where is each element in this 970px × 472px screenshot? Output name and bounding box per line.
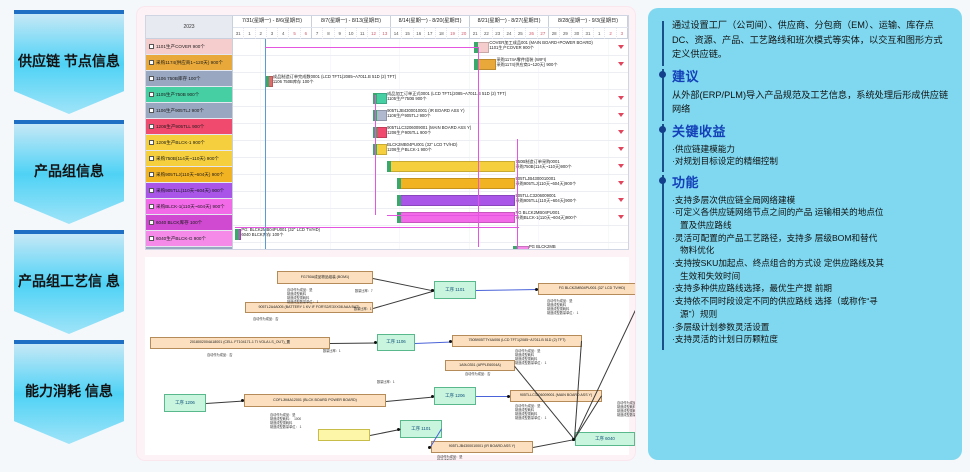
section-paragraph: 从外部(ERP/PLM)导入产品规范及工艺信息，系统处理后形成供应链网络 — [672, 88, 950, 117]
network-node[interactable]: 1A9L0351 (APPLE6004A) — [445, 360, 515, 371]
gantt-bar-label: PG: BLCK2MB04PU001 (32" LCD TV/HD) 6040 … — [241, 228, 320, 237]
gantt-row-label[interactable]: 6040 BLCK库存 100个 — [146, 215, 232, 231]
gantt-row-label[interactable]: 1101生产COVER 900个 — [146, 39, 232, 55]
network-node[interactable]: 2018002004A18001 (CELL FT104171-1 TI VOL… — [150, 337, 330, 349]
gantt-row-label[interactable]: 采购BLCK-F(6040天~C04天)1000个 — [146, 247, 232, 250]
gantt-row-label-text: 1206生产BLCK-1 900个 — [156, 140, 205, 145]
milestone-marker-icon — [618, 62, 624, 66]
gantt-week-header: 8/28(星期一) - 9/3(星期日) — [549, 16, 628, 27]
expand-icon[interactable] — [149, 76, 154, 81]
network-annotation: 自动作为成品：否 — [207, 353, 233, 357]
network-node[interactable]: 工序 6040 — [575, 432, 635, 446]
gantt-dependency-link — [235, 227, 519, 228]
bullet-icon — [659, 177, 666, 184]
milestone-marker-icon — [618, 147, 624, 151]
gantt-day-cell: 3 — [267, 28, 278, 39]
description-panel: 通过设置工厂（公司间）、供应商、分包商（EM）、运输、库存点DC、资源、产品、工… — [648, 8, 962, 460]
milestone-marker-icon — [618, 113, 624, 117]
section-title: 建议 — [672, 66, 950, 85]
gantt-week-header: 8/21(星期一) - 8/27(星期日) — [470, 16, 549, 27]
gantt-day-cell: 29 — [560, 28, 571, 39]
gantt-row-track: PG BLCK2MB04PU001 采购BLCK-1(110天~604天)900… — [233, 209, 628, 226]
gantt-dependency-link — [375, 95, 376, 215]
gantt-day-group: 31123456 — [233, 28, 312, 39]
network-annotation: 数量比率：1 — [323, 349, 341, 353]
gantt-row-label[interactable]: 1105生产750B 900个 — [146, 87, 232, 103]
slide-root: 供应链 节点信息 产品组信息 产品组工艺信 息 能力消耗 信息 2023 7/3… — [0, 0, 970, 472]
gantt-bar-sublabel: 1106生产905TLJ 900个 — [387, 114, 464, 119]
network-edge — [373, 278, 434, 291]
network-node[interactable]: COFLJM4A12001 (BLCK BOARD POWER BOARD) — [244, 394, 386, 407]
gantt-day-labels: 3112345678910111213141516171819202122232… — [233, 27, 628, 39]
section-title: 关键收益 — [672, 121, 950, 140]
gantt-bar[interactable] — [387, 161, 515, 172]
gantt-day-cell: 19 — [447, 28, 458, 39]
network-node[interactable]: 工序 1206 — [434, 387, 476, 405]
chevron-cap — [14, 10, 124, 14]
network-annotation: 自动作为成品：否 — [253, 317, 279, 321]
gantt-week-header: 7/31(星期一) - 8/6(星期日) — [233, 16, 312, 27]
gantt-row-track: 采购1174A零件组装 (WIFI) 采购1174(供应商1~120天) 900… — [233, 56, 628, 73]
gantt-day-group: 78910111213 — [312, 28, 391, 39]
gantt-day-cell: 27 — [538, 28, 548, 39]
network-annotation: 自动作为成品：是 制造成型耗料： 1000 制造成型需耗料 制造成型数量单位： … — [270, 413, 301, 429]
gantt-dependency-link — [517, 139, 518, 249]
gantt-row-label[interactable]: 采购750B(114天~110天) 900个 — [146, 151, 232, 167]
gantt-bar-sublabel: 1101生产COVER 900个 — [489, 46, 592, 51]
gantt-day-cell: 16 — [414, 28, 425, 39]
gantt-row-label-text: 采购1174(供应商1~120天) 900个 — [156, 60, 223, 65]
network-annotation: 自动作为成品：否 — [465, 372, 491, 376]
gantt-bar-sublabel: 1206生产BLCK-1 900个 — [387, 148, 457, 153]
network-node[interactable]: FG750A成品物品组装 (BOM1) — [277, 271, 373, 284]
chevron-step-2[interactable]: 产品组工艺信 息 — [14, 230, 124, 334]
network-edge-endpoint — [431, 289, 434, 292]
gantt-day-cell: 18 — [436, 28, 447, 39]
gantt-row-label-text: 1101生产COVER 900个 — [156, 44, 205, 49]
section-item-list: ·供应链建模能力·对规划目标设定的精细控制 — [672, 143, 950, 168]
gantt-bar-sublabel: 采购905TLJ(110天~604天)900个 — [515, 182, 576, 187]
chevron-cap — [14, 230, 124, 234]
expand-icon[interactable] — [149, 44, 154, 49]
section-item: 置及供应路线 — [672, 219, 950, 231]
gantt-bar-handle[interactable] — [397, 212, 401, 223]
gantt-day-group: 14151617181920 — [391, 28, 470, 39]
section-item: ·支持多种供应路线选择，最优生产提 前期 — [672, 282, 950, 294]
gantt-bar-label: 905TLJB4300010001 (IR BOARD ASS Y) 1106生… — [387, 109, 464, 118]
section-item: 物料优化 — [672, 244, 950, 256]
gantt-row-label-text: 采购905TLL(110天~604天) 900个 — [156, 188, 224, 193]
gantt-chart[interactable]: 2023 7/31(星期一) - 8/6(星期日)8/7(星期一) - 8/13… — [145, 15, 629, 250]
milestone-marker-icon — [618, 164, 624, 168]
gantt-day-cell: 5 — [289, 28, 300, 39]
chevron-step-1-label: 产品组信息 — [30, 163, 108, 181]
gantt-row-label-text: 采购750B(114天~110天) 900个 — [156, 156, 219, 161]
network-edge — [514, 366, 575, 440]
network-edge-endpoint — [374, 341, 377, 344]
gantt-row-label-text: 1206生产905TLL 900个 — [156, 124, 204, 129]
network-annotation: 自动作为成品：是 制造成型耗料： 1000 制造成型需耗料 制造成型数量单位： … — [617, 401, 636, 417]
bullet-icon — [659, 126, 666, 133]
gantt-day-cell: 20 — [459, 28, 469, 39]
network-node[interactable]: 工序 1101 — [434, 281, 476, 299]
gantt-day-cell: 21 — [470, 28, 481, 39]
expand-icon[interactable] — [149, 60, 154, 65]
gantt-bar-label: BLCK2MB04PU001 (32" LCD TV/HD) 1206生产BLC… — [387, 143, 457, 152]
gantt-bar-sublabel: 1106 750B库存 100个 — [273, 80, 396, 85]
milestone-marker-icon — [618, 130, 624, 134]
gantt-day-cell: 3 — [617, 28, 627, 39]
gantt-day-cell: 10 — [346, 28, 357, 39]
chevron-cap — [14, 340, 124, 344]
gantt-week-labels: 7/31(星期一) - 8/6(星期日)8/7(星期一) - 8/13(星期日)… — [233, 16, 628, 27]
gantt-week-header: 8/7(星期一) - 8/13(星期日) — [312, 16, 391, 27]
supply-network-diagram[interactable]: FG750A成品物品组装 (BOM1)905TL2A4A005 (BATTERY… — [145, 257, 629, 455]
network-edge — [330, 343, 377, 344]
network-node[interactable]: 750B905TTY4A006 (LCD TFT1(2085~A7011.B 5… — [452, 335, 582, 347]
section-item: 源”）规则 — [672, 308, 950, 320]
network-node[interactable]: 工序 1206 — [164, 394, 206, 412]
network-annotation: 数量比率：1 — [354, 307, 372, 311]
gantt-bar-label: PG BLCK2MB04PU001 采购BLCK-1(110天~604天)900… — [515, 211, 576, 220]
network-node[interactable] — [318, 429, 370, 441]
chevron-step-1[interactable]: 产品组信息 — [14, 120, 124, 224]
gantt-row-label[interactable]: 6040生产BLCK-G 900个 — [146, 231, 232, 247]
section-item: ·支持灵活的计划日历颗粒度 — [672, 333, 950, 345]
section-item-list: ·支持多层次供应链全局网络建模·可定义各供应链网络节点之间的产品 运输相关的地点… — [672, 194, 950, 346]
network-edge — [415, 341, 452, 343]
gantt-bar-label: 905TLLC3206009001 (MAIN BOARD ASS Y) 120… — [387, 126, 471, 135]
network-edge-endpoint — [431, 395, 434, 398]
gantt-row-track: 750B制造订单采购0001 采购750B(114天~110天)900个 — [233, 158, 628, 175]
gantt-day-group: 28293031123 — [549, 28, 628, 39]
milestone-marker-icon — [618, 249, 624, 250]
gantt-row-label-text: 1106 750B库存 100个 — [156, 76, 201, 81]
network-edge — [476, 396, 510, 397]
gantt-day-cell: 11 — [357, 28, 368, 39]
bullet-icon — [659, 71, 666, 78]
expand-icon[interactable] — [149, 124, 154, 129]
network-annotation: 自动作为成品：是 制造成型耗料 制造成型需耗料 制造成型数量单位： 1 — [547, 299, 578, 315]
gantt-bar[interactable] — [397, 178, 516, 189]
section-rail — [662, 175, 664, 350]
gantt-bar-label: 905TLLC3206009001 采购905TLL(110天~604天)900… — [515, 194, 576, 203]
gantt-row-label[interactable]: 1106生产905TLJ 900个 — [146, 103, 232, 119]
gantt-row-track: 成品制造订单完成数0001 (LCD TFT1(2085~A7011.B 51D… — [233, 73, 628, 90]
milestone-marker-icon — [618, 96, 624, 100]
gantt-day-cell: 22 — [481, 28, 492, 39]
section-title: 功能 — [672, 172, 950, 191]
gantt-bar-handle[interactable] — [387, 161, 391, 172]
network-annotation: 数量比率：7 — [355, 289, 373, 293]
network-edge — [476, 289, 538, 291]
gantt-bar-label: 750B制造订单采购0001 采购750B(114天~110天)900个 — [515, 160, 571, 169]
gantt-bar-sublabel: 采购750B(114天~110天)900个 — [515, 165, 571, 170]
gantt-day-cell: 23 — [493, 28, 504, 39]
section-item: ·对规划目标设定的精细控制 — [672, 155, 950, 167]
gantt-body: 1101生产COVER 900个采购1174(供应商1~120天) 900个11… — [146, 39, 628, 250]
expand-icon[interactable] — [149, 92, 154, 97]
gantt-day-cell: 6 — [301, 28, 311, 39]
gantt-row-label-text: 采购905TLJ(110天~604天) 900个 — [156, 172, 224, 177]
expand-icon[interactable] — [149, 188, 154, 193]
panel-section-0: 建议从外部(ERP/PLM)导入产品规范及工艺信息，系统处理后形成供应链网络 — [658, 66, 950, 117]
gantt-bar-label: 成品加工订单正式0001 (LCD TFT1(2085~A7011.B 51D … — [387, 92, 506, 101]
gantt-day-cell: 17 — [425, 28, 436, 39]
section-item: ·供应链建模能力 — [672, 143, 950, 155]
gantt-day-cell: 14 — [391, 28, 402, 39]
expand-icon[interactable] — [149, 108, 154, 113]
gantt-row-label[interactable]: 采购BLCK-1(110天~604天) 900个 — [146, 199, 232, 215]
chevron-step-0[interactable]: 供应链 节点信息 — [14, 10, 124, 114]
expand-icon[interactable] — [149, 140, 154, 145]
gantt-day-cell: 31 — [233, 28, 244, 39]
gantt-row-label-text: 1105生产750B 900个 — [156, 92, 199, 97]
expand-icon[interactable] — [149, 156, 154, 161]
intro-section: 通过设置工厂（公司间）、供应商、分包商（EM）、运输、库存点DC、资源、产品、工… — [658, 18, 950, 62]
gantt-week-header: 8/14(星期一) - 8/20(星期日) — [391, 16, 470, 27]
gantt-bar[interactable] — [235, 229, 242, 240]
network-edge-endpoint — [428, 446, 431, 449]
gantt-bar-label: 成品制造订单完成数0001 (LCD TFT1(2085~A7011.B 51D… — [273, 75, 396, 84]
section-item: ·支持多层次供应链全局网络建模 — [672, 194, 950, 206]
milestone-marker-icon — [618, 45, 624, 49]
network-node[interactable]: 905TLLC3206009001 (MAIN BOARD ASS Y) — [510, 390, 602, 402]
network-edge — [386, 396, 434, 401]
network-node[interactable]: 工序 1106 — [377, 334, 415, 351]
gantt-day-cell: 2 — [256, 28, 267, 39]
gantt-row-track: 905TLJB4300010001 采购905TLJ(110天~604天)900… — [233, 175, 628, 192]
expand-icon[interactable] — [149, 204, 154, 209]
gantt-year-label: 2023 — [146, 16, 233, 38]
gantt-bar-sublabel: 1206生产905TLL 900个 — [387, 131, 471, 136]
gantt-row-track: PG: BLCK2MB04PU001 (32" LCD TV/HD) 6040 … — [233, 226, 628, 243]
section-item: ·灵活可配置的产品工艺路径，支持多 层级BOM和替代 — [672, 232, 950, 244]
process-flow-chevrons: 供应链 节点信息 产品组信息 产品组工艺信 息 能力消耗 信息 — [14, 4, 124, 468]
section-item: ·支持按SKU加起点、终点组合的方式设 定供应路线及其 — [672, 257, 950, 269]
network-edge-endpoint — [535, 288, 538, 291]
gantt-day-cell: 28 — [549, 28, 560, 39]
network-node[interactable]: FG BLCK2MB04PU001 (32" LCD TV/HD) — [538, 283, 636, 295]
gantt-row-label[interactable]: 采购1174(供应商1~120天) 900个 — [146, 55, 232, 71]
gantt-day-cell: 2 — [605, 28, 616, 39]
today-line — [265, 39, 266, 250]
gantt-row-label[interactable]: 采购905TLL(110天~604天) 900个 — [146, 183, 232, 199]
gantt-bar-label: 采购1174A零件组装 (WIFI) 采购1174(供应商1~120天) 900… — [496, 58, 557, 67]
gantt-dependency-link — [478, 47, 479, 247]
milestone-marker-icon — [618, 198, 624, 202]
section-item: ·可定义各供应链网络节点之间的产品 运输相关的地点位 — [672, 206, 950, 218]
gantt-row-label[interactable]: 1206生产BLCK-1 900个 — [146, 135, 232, 151]
intro-text: 通过设置工厂（公司间）、供应商、分包商（EM）、运输、库存点DC、资源、产品、工… — [672, 18, 950, 62]
gantt-bar[interactable] — [397, 195, 516, 206]
network-annotation: 数量比率：1 — [377, 380, 395, 384]
gantt-header: 2023 7/31(星期一) - 8/6(星期日)8/7(星期一) - 8/13… — [146, 16, 628, 39]
gantt-bar-handle[interactable] — [397, 178, 401, 189]
gantt-bar-label: 905TLJB4300010001 采购905TLJ(110天~604天)900… — [515, 177, 576, 186]
gantt-bar-sublabel: 6040 BLCK库存 100个 — [241, 233, 320, 238]
gantt-day-cell: 4 — [278, 28, 289, 39]
network-annotation: 自动作为成品：是 制造成型耗料 制造成型需耗料 制造成型数量单位： 1 — [515, 349, 546, 365]
milestone-marker-icon — [618, 181, 624, 185]
expand-icon[interactable] — [149, 220, 154, 225]
gantt-timeline-track[interactable]: COVER加工成品001 (MAIN BOARD+POWER BOARD) 11… — [233, 39, 628, 250]
chevron-step-0-label: 供应链 节点信息 — [14, 53, 124, 71]
gantt-row-label[interactable]: 1106 750B库存 100个 — [146, 71, 232, 87]
gantt-day-cell: 25 — [515, 28, 526, 39]
section-item: ·多层级计划参数灵活设置 — [672, 321, 950, 333]
gantt-day-cell: 26 — [526, 28, 537, 39]
expand-icon[interactable] — [149, 236, 154, 241]
gantt-day-cell: 1 — [244, 28, 255, 39]
network-edge-endpoint — [449, 340, 452, 343]
gantt-row-label-text: 6040 BLCK库存 100个 — [156, 220, 202, 225]
network-edge-endpoint — [507, 395, 510, 398]
expand-icon[interactable] — [149, 172, 154, 177]
gantt-day-cell: 24 — [504, 28, 515, 39]
gantt-row-track: 成品加工订单正式0001 (LCD TFT1(2085~A7011.B 51D … — [233, 90, 628, 107]
gantt-bar-label: COVER加工成品001 (MAIN BOARD+POWER BOARD) 11… — [489, 41, 592, 50]
gantt-bar-sublabel: 1105生产750B 900个 — [387, 97, 506, 102]
network-edge — [206, 401, 244, 404]
gantt-dependency-link — [265, 47, 478, 48]
gantt-day-cell: 15 — [402, 28, 413, 39]
gantt-bar-sublabel: 采购1174(供应商1~120天) 900个 — [496, 63, 557, 68]
network-edge-endpoint — [241, 399, 244, 402]
gantt-day-group: 21222324252627 — [470, 28, 549, 39]
gantt-row-label-text: 采购BLCK-1(110天~604天) 900个 — [156, 204, 225, 209]
chevron-step-3-label: 能力消耗 信息 — [21, 383, 117, 401]
gantt-row-track: 905TLLC3206009001 (MAIN BOARD ASS Y) 120… — [233, 124, 628, 141]
gantt-day-cell: 31 — [583, 28, 594, 39]
gantt-row-track: 905TLLC3206009001 采购905TLL(110天~604天)900… — [233, 192, 628, 209]
section-item: 生效和失效时间 — [672, 270, 950, 282]
gantt-row-track: 905TLJB4300010001 (IR BOARD ASS Y) 1106生… — [233, 107, 628, 124]
network-edge — [373, 290, 434, 308]
gantt-row-label[interactable]: 采购905TLJ(110天~604天) 900个 — [146, 167, 232, 183]
gantt-row-track: BLCK2MB04PU001 (32" LCD TV/HD) 1206生产BLC… — [233, 141, 628, 158]
gantt-row-label[interactable]: 1206生产905TLL 900个 — [146, 119, 232, 135]
gantt-row-label-column[interactable]: 1101生产COVER 900个采购1174(供应商1~120天) 900个11… — [146, 39, 233, 250]
section-item: ·支持依不同时段设定不同的供应路线 选择（或称作“寻 — [672, 295, 950, 307]
section-rail — [662, 21, 664, 66]
screenshot-panel: 2023 7/31(星期一) - 8/6(星期日)8/7(星期一) - 8/13… — [136, 6, 636, 461]
gantt-row-label-text: 1106生产905TLJ 900个 — [156, 108, 204, 113]
gantt-bar[interactable] — [513, 246, 528, 250]
gantt-day-cell: 1 — [594, 28, 605, 39]
chevron-step-2-label: 产品组工艺信 息 — [14, 273, 124, 291]
network-edge — [533, 439, 575, 448]
gantt-bar-handle[interactable] — [397, 195, 401, 206]
panel-section-1: 关键收益·供应链建模能力·对规划目标设定的精细控制 — [658, 121, 950, 168]
chevron-step-3[interactable]: 能力消耗 信息 — [14, 340, 124, 444]
gantt-bar-handle[interactable] — [235, 229, 239, 240]
gantt-day-cell: 7 — [312, 28, 323, 39]
network-edge-endpoint — [572, 438, 575, 441]
gantt-bar-label: PG BLCK2MB 6040生产BLCK-G — [529, 245, 562, 250]
gantt-row-track: PG BLCK2MB 6040生产BLCK-G — [233, 243, 628, 250]
gantt-bar[interactable] — [397, 212, 516, 223]
gantt-dependency-link — [387, 215, 517, 216]
chevron-cap — [14, 120, 124, 124]
gantt-bar-sublabel: 采购BLCK-1(110天~604天)900个 — [515, 216, 576, 221]
gantt-day-cell: 13 — [380, 28, 390, 39]
gantt-day-cell: 12 — [368, 28, 379, 39]
gantt-row-label-text: 6040生产BLCK-G 900个 — [156, 236, 206, 241]
gantt-bar-sublabel: 采购905TLL(110天~604天)900个 — [515, 199, 576, 204]
milestone-marker-icon — [618, 215, 624, 219]
network-annotation: 自动作为成品：是 制造成型耗料 制造成型需耗料 制造成型数量单位： 1 — [515, 404, 546, 420]
network-edge-endpoint — [397, 428, 400, 431]
network-node[interactable]: 905TLJB4300010001 (IR BOARD ASS Y) — [431, 441, 533, 453]
gantt-day-cell: 30 — [572, 28, 583, 39]
network-edge — [370, 429, 400, 436]
section-list: 建议从外部(ERP/PLM)导入产品规范及工艺信息，系统处理后形成供应链网络关键… — [658, 66, 950, 345]
network-annotation: 自动作为成品：是 制造成型耗料 制造成型需耗料 制造成型数量单位： 1 — [287, 288, 318, 304]
gantt-day-cell: 9 — [335, 28, 346, 39]
gantt-bar[interactable] — [265, 76, 273, 87]
panel-section-2: 功能·支持多层次供应链全局网络建模·可定义各供应链网络节点之间的产品 运输相关的… — [658, 172, 950, 346]
gantt-day-cell: 8 — [323, 28, 334, 39]
network-annotation: 自动作为成品：是 制造成型耗料 制造成型需耗料 制造成型数量单位： 1 — [437, 455, 468, 461]
